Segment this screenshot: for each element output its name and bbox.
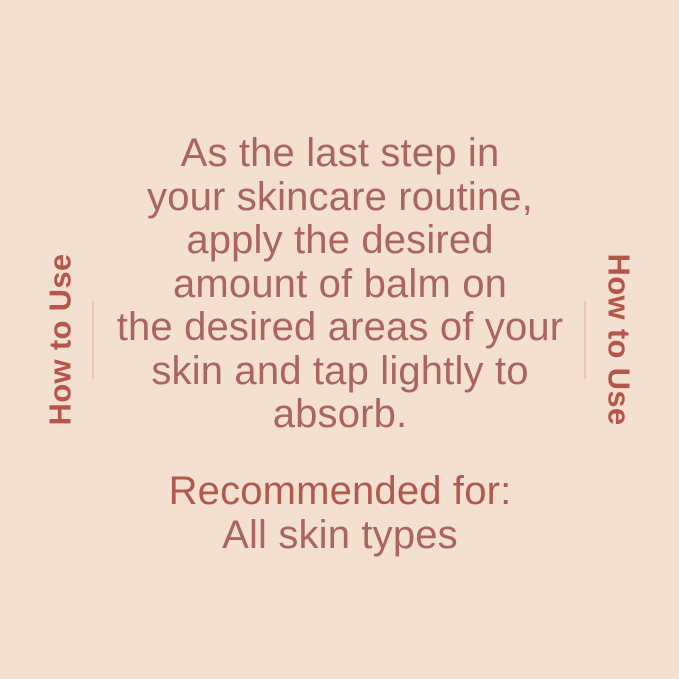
recommendation-value: All skin types <box>105 513 575 557</box>
side-label-left-text: How to Use <box>45 254 76 426</box>
instructions-line: your skincare routine, <box>105 176 575 220</box>
instructions-line: As the last step in <box>105 132 575 176</box>
instructions-line: absorb. <box>105 393 575 437</box>
instructions-paragraph: As the last step in your skincare routin… <box>105 132 575 437</box>
content-block: As the last step in your skincare routin… <box>105 132 575 557</box>
instructions-line: apply the desired <box>105 219 575 263</box>
instructions-line: amount of balm on <box>105 263 575 307</box>
recommendation-heading: Recommended for: <box>105 469 575 513</box>
recommendation-block: Recommended for: All skin types <box>105 469 575 557</box>
divider-right <box>584 301 586 379</box>
side-label-right: How to Use <box>591 0 647 679</box>
instructions-line: the desired areas of your <box>105 306 575 350</box>
instructions-line: skin and tap lightly to <box>105 350 575 394</box>
side-label-left: How to Use <box>32 0 88 679</box>
divider-left <box>92 301 94 379</box>
how-to-use-card: How to Use How to Use As the last step i… <box>0 0 679 679</box>
side-label-right-text: How to Use <box>604 254 635 426</box>
